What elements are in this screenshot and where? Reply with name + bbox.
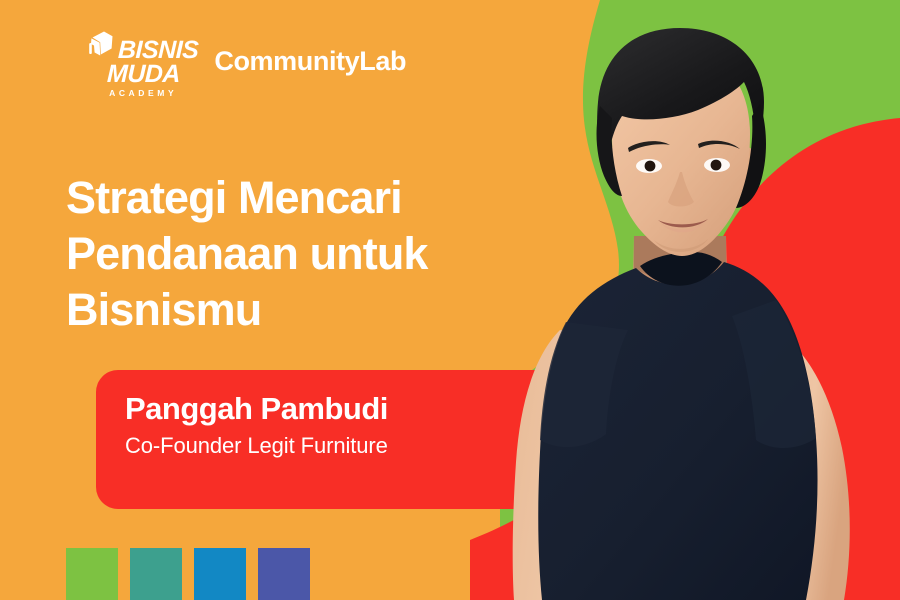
poster-title: Strategi Mencari Pendanaan untuk Bisnism…	[66, 170, 536, 337]
logo-line-academy: ACADEMY	[109, 89, 177, 98]
right-pupil	[711, 160, 722, 171]
logo-top-row: BISNIS	[88, 30, 198, 62]
logo-line-bisnis: BISNIS	[118, 39, 199, 62]
brand-header: BISNIS MUDA ACADEMY CommunityLab	[88, 30, 406, 98]
color-swatch-row	[66, 548, 310, 600]
poster-canvas: BISNIS MUDA ACADEMY CommunityLab Strateg…	[0, 0, 900, 600]
swatch-indigo	[258, 548, 310, 600]
left-pupil	[645, 161, 656, 172]
speaker-role: Co-Founder Legit Furniture	[125, 432, 388, 461]
swatch-green	[66, 548, 118, 600]
bisnis-muda-academy-logo: BISNIS MUDA ACADEMY	[88, 30, 198, 98]
speaker-portrait	[476, 0, 900, 600]
brand-name: CommunityLab	[214, 46, 406, 77]
swatch-teal	[130, 548, 182, 600]
graduation-cap-icon	[88, 30, 114, 60]
logo-line-muda: MUDA	[106, 63, 180, 86]
speaker-info: Panggah Pambudi Co-Founder Legit Furnitu…	[125, 390, 388, 460]
speaker-name: Panggah Pambudi	[125, 390, 388, 429]
swatch-blue	[194, 548, 246, 600]
